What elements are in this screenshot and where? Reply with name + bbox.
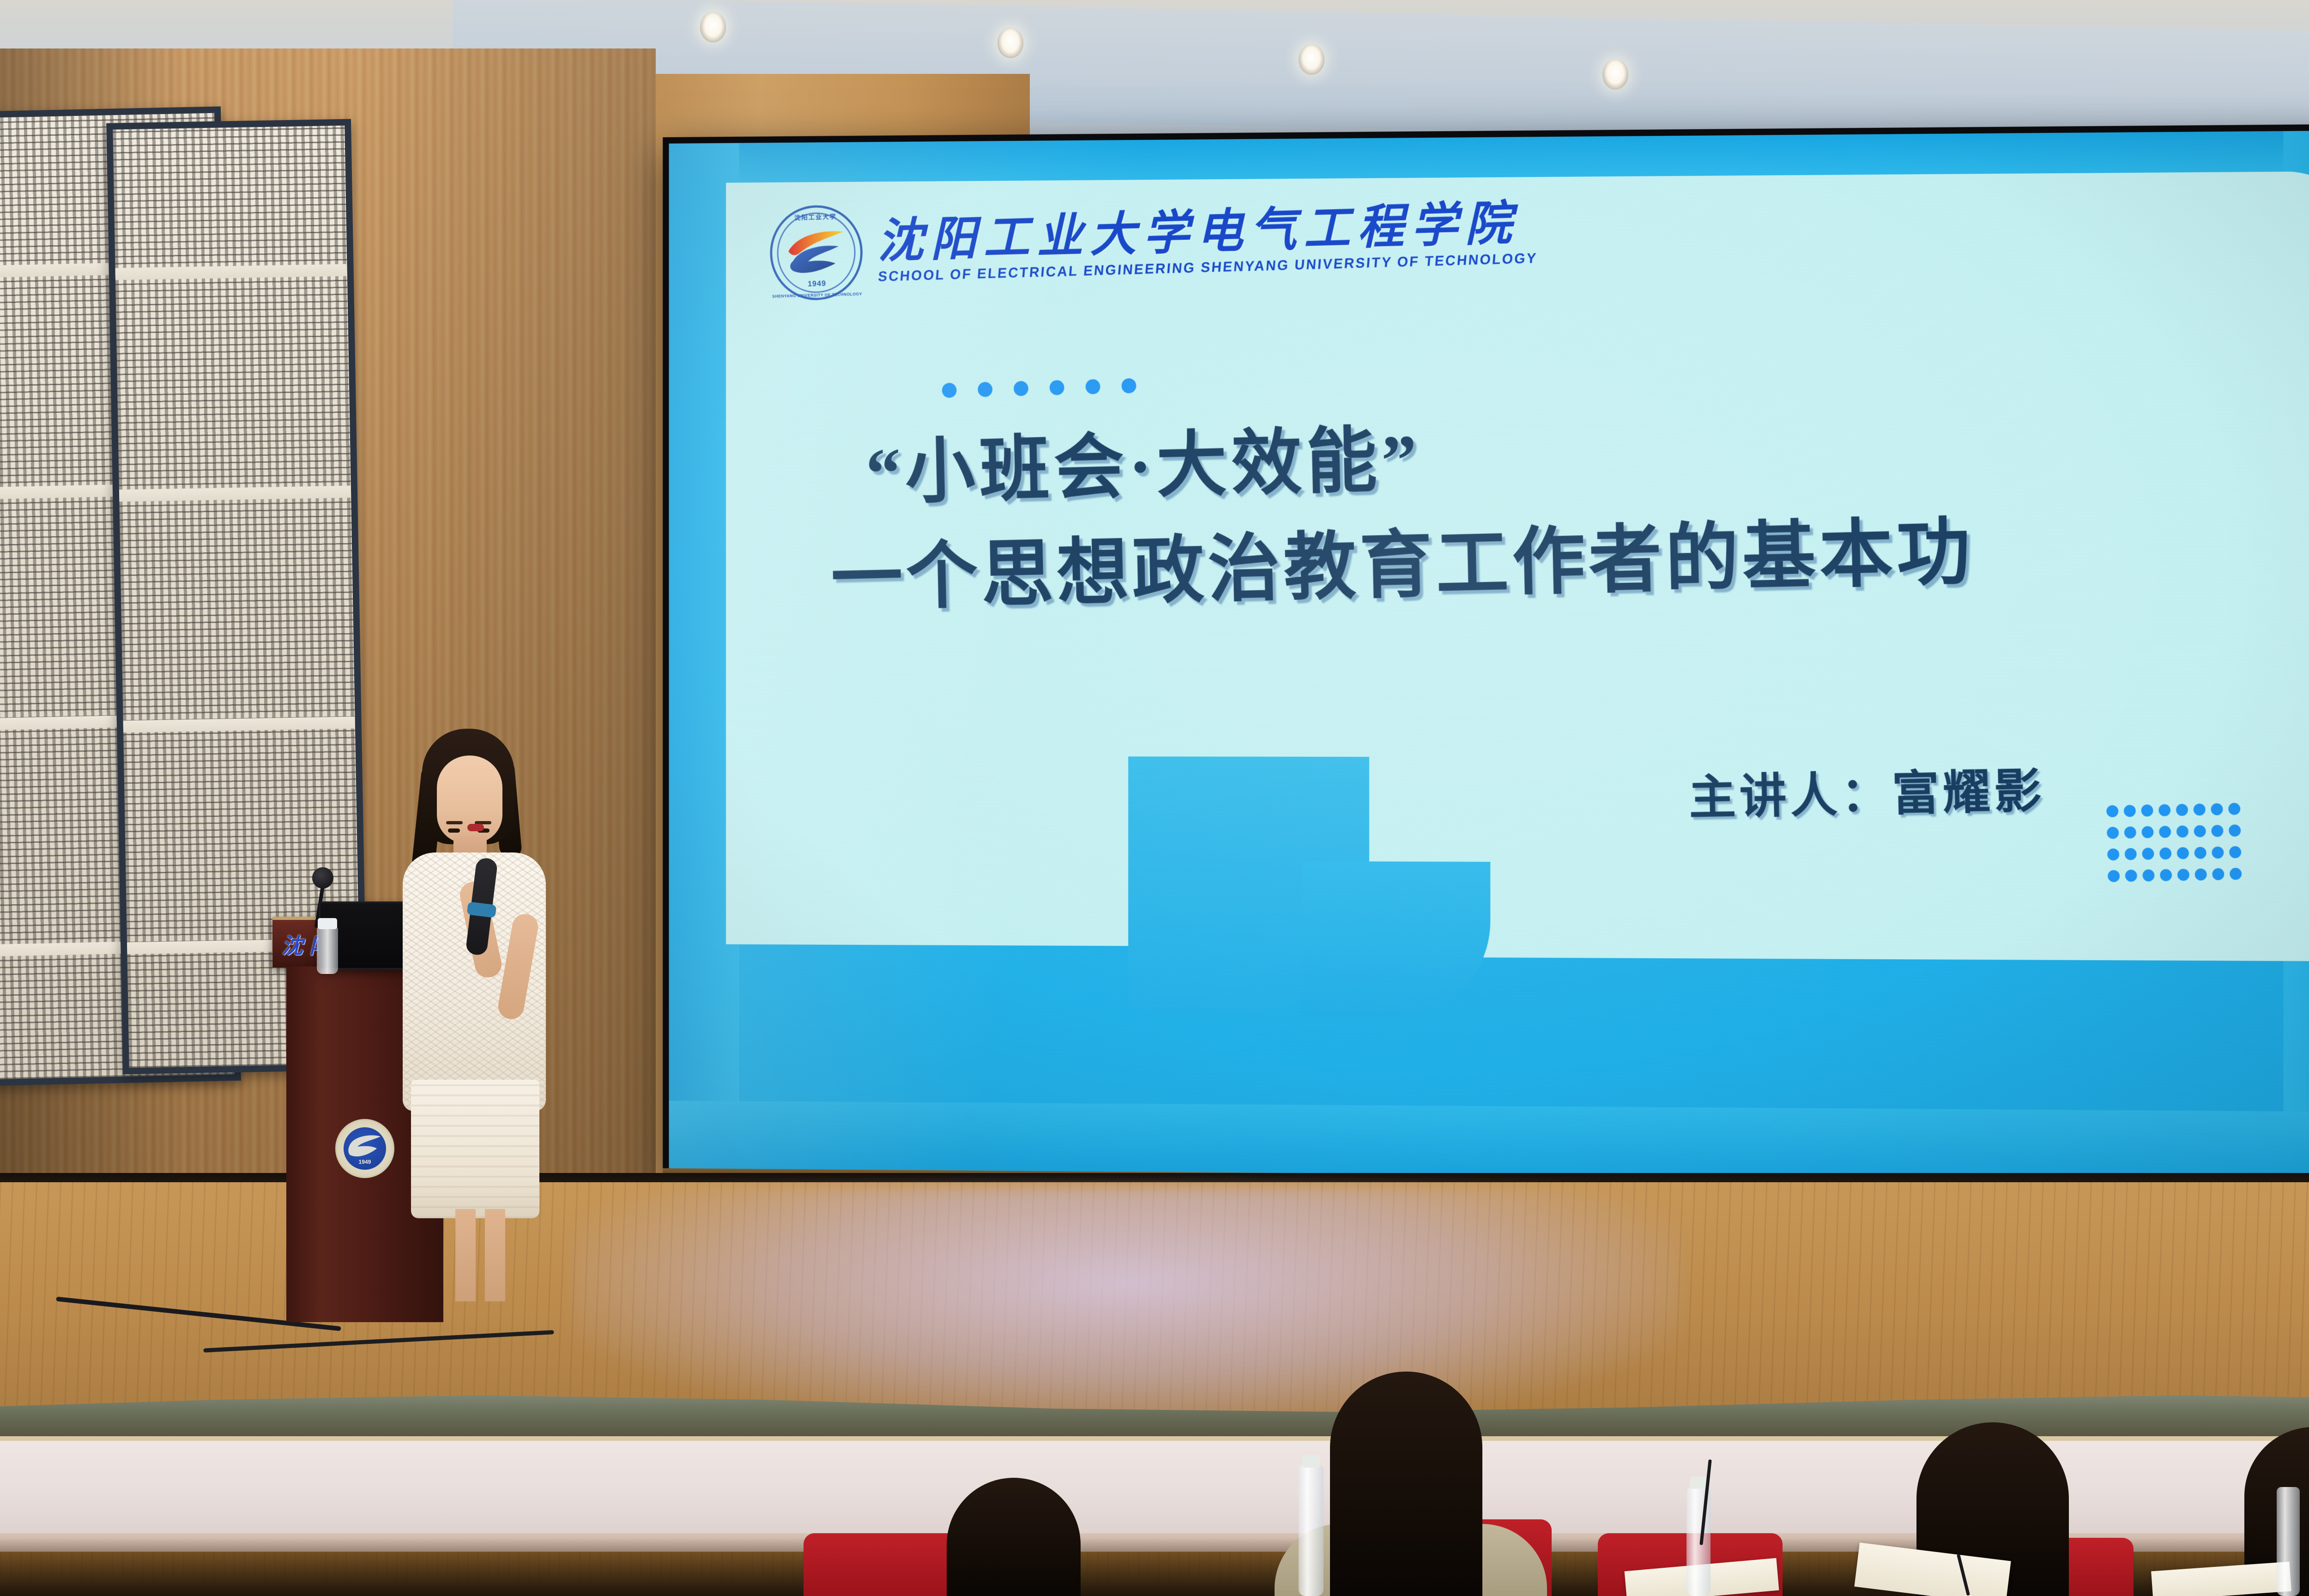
water-bottle <box>2277 1487 2300 1596</box>
audience-head <box>1330 1372 1482 1596</box>
university-emblem-icon: 1949 <box>335 1119 394 1178</box>
decor-dot <box>1014 381 1028 396</box>
downlight-icon <box>997 28 1023 58</box>
bottle-cap <box>1690 1477 1707 1489</box>
podium-water-bottle <box>317 926 338 974</box>
leg-right <box>485 1209 505 1301</box>
decor-dot <box>1121 378 1136 393</box>
lecture-hall-photo: 沈阳工业大学 <box>0 0 2309 1596</box>
downlight-icon <box>700 12 726 42</box>
projection-screen-frame: 沈阳工业大学 <box>663 124 2309 1197</box>
downlight-icon <box>1299 44 1324 75</box>
podium-bottle-cap <box>318 918 337 929</box>
decor-dot <box>942 383 956 398</box>
projected-slide: 沈阳工业大学 <box>669 130 2309 1181</box>
lace-dress-skirt <box>411 1080 539 1218</box>
seal-year: 1949 <box>771 278 864 290</box>
projector-light-spill <box>573 1187 1681 1427</box>
slide-title-block: “小班会·大效能” 一个思想政治教育工作者的基本功 <box>812 390 2309 628</box>
decorative-dot-grid <box>2106 803 2248 892</box>
gooseneck-microphone-head-icon <box>312 867 333 889</box>
decor-dot <box>1050 380 1064 395</box>
decor-dot <box>978 382 992 397</box>
presenter-person <box>398 729 550 1241</box>
water-bottle <box>1299 1465 1324 1596</box>
university-seal-icon: 沈阳工业大学 <box>769 204 864 302</box>
seal-swoosh-icon <box>785 228 848 283</box>
lips <box>467 824 484 831</box>
slide-presenter: 主讲人：富耀影 <box>1688 751 2046 828</box>
bottle-cap <box>1302 1455 1320 1468</box>
emblem-year: 1949 <box>344 1159 386 1165</box>
decor-dot <box>1085 379 1100 394</box>
leg-left <box>455 1209 476 1301</box>
downlight-icon <box>1602 59 1628 90</box>
slide-bottom-band <box>669 1100 2309 1181</box>
